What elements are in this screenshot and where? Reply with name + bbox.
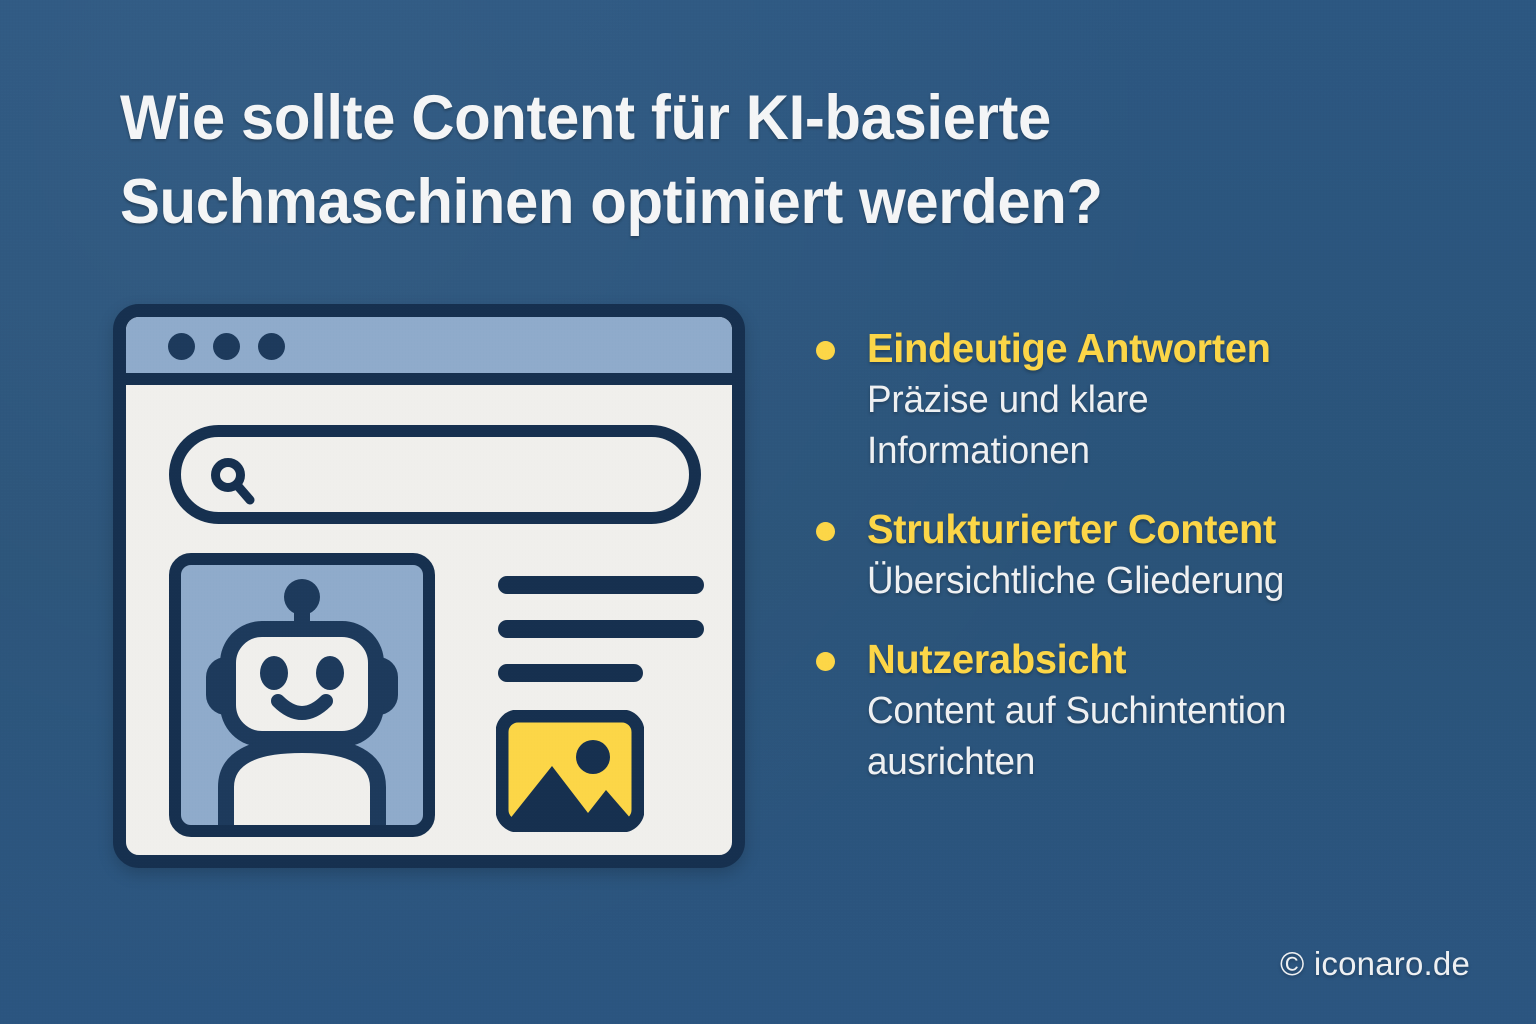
window-dot-icon — [168, 333, 195, 360]
list-item: Nutzerabsicht Content auf Suchintention … — [806, 633, 1486, 788]
list-item: Eindeutige Antworten Präzise und klare I… — [806, 322, 1486, 477]
list-item-subtitle: Präzise und klare Informationen — [867, 375, 1467, 477]
list-item-title: Nutzerabsicht — [867, 633, 1467, 685]
picture-icon — [496, 710, 644, 832]
copyright-credit: © iconaro.de — [1280, 944, 1470, 984]
search-input[interactable] — [169, 425, 701, 524]
bullet-dot-icon — [816, 652, 835, 671]
robot-icon — [184, 573, 420, 837]
content-line — [498, 620, 704, 638]
list-item: Strukturierter Content Übersichtliche Gl… — [806, 503, 1486, 607]
page-title: Wie sollte Content für KI-basierte Suchm… — [120, 76, 1384, 244]
bullet-dot-icon — [816, 522, 835, 541]
window-dot-icon — [258, 333, 285, 360]
list-item-subtitle: Übersichtliche Gliederung — [867, 556, 1467, 607]
content-line — [498, 576, 704, 594]
list-item-title: Eindeutige Antworten — [867, 322, 1467, 374]
infographic-canvas: Wie sollte Content für KI-basierte Suchm… — [0, 0, 1536, 1024]
window-dot-icon — [213, 333, 240, 360]
browser-titlebar — [126, 317, 732, 385]
list-item-subtitle: Content auf Suchintention ausrichten — [867, 686, 1467, 788]
content-line — [498, 664, 643, 682]
browser-window-illustration — [113, 304, 745, 868]
list-item-title: Strukturierter Content — [867, 503, 1467, 555]
benefits-list: Eindeutige Antworten Präzise und klare I… — [806, 322, 1486, 814]
search-icon — [208, 456, 260, 508]
bullet-dot-icon — [816, 341, 835, 360]
robot-avatar-panel — [169, 553, 435, 837]
